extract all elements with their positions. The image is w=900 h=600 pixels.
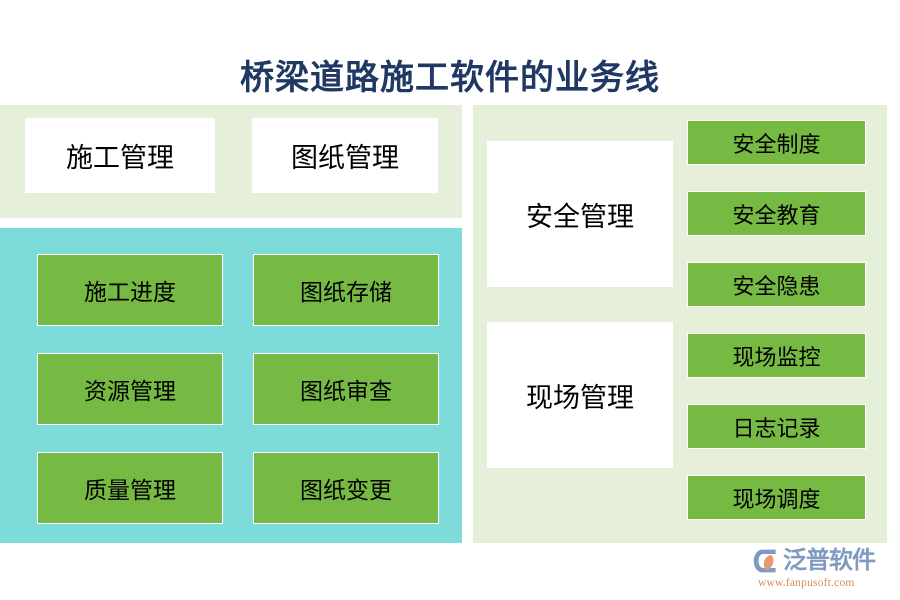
diagram-canvas: 桥梁道路施工软件的业务线 施工管理 图纸管理 施工进度 图纸存储 资源管理 图纸… [0, 0, 900, 600]
category-drawing-management[interactable]: 图纸管理 [252, 118, 438, 193]
sub-item-site-dispatch[interactable]: 现场调度 [687, 475, 866, 520]
sub-item-safety-system[interactable]: 安全制度 [687, 120, 866, 165]
page-title: 桥梁道路施工软件的业务线 [0, 50, 900, 99]
detail-item-label: 资源管理 [84, 372, 176, 406]
sub-item-site-monitoring[interactable]: 现场监控 [687, 333, 866, 378]
detail-item-quality-management[interactable]: 质量管理 [37, 452, 223, 524]
detail-item-drawing-storage[interactable]: 图纸存储 [253, 254, 439, 326]
sub-item-log-record[interactable]: 日志记录 [687, 404, 866, 449]
category-safety-management[interactable]: 安全管理 [487, 141, 673, 287]
brand-logo: 泛普软件 www.fanpusoft.com [752, 546, 892, 594]
category-construction-management-label: 施工管理 [66, 136, 174, 175]
sub-item-label: 现场调度 [732, 482, 820, 514]
sub-item-safety-hazard[interactable]: 安全隐患 [687, 262, 866, 307]
logo-wordmark: 泛普软件 [783, 549, 875, 573]
sub-item-label: 日志记录 [732, 411, 820, 443]
sub-item-label: 现场监控 [732, 340, 820, 372]
fanpu-swoosh-icon [752, 547, 780, 575]
sub-item-safety-education[interactable]: 安全教育 [687, 191, 866, 236]
sub-item-label: 安全隐患 [732, 269, 820, 301]
detail-item-drawing-review[interactable]: 图纸审查 [253, 353, 439, 425]
logo-row: 泛普软件 [752, 546, 892, 576]
sub-item-label: 安全教育 [732, 198, 820, 230]
detail-item-resource-management[interactable]: 资源管理 [37, 353, 223, 425]
detail-item-label: 质量管理 [84, 471, 176, 505]
construction-detail-panel: 施工进度 图纸存储 资源管理 图纸审查 质量管理 图纸变更 [0, 228, 462, 543]
category-site-management-label: 现场管理 [526, 376, 634, 415]
construction-category-panel: 施工管理 图纸管理 [0, 105, 462, 218]
category-site-management[interactable]: 现场管理 [487, 322, 673, 468]
safety-site-panel: 安全管理 安全制度 安全教育 安全隐患 现场管理 现场监控 日志记录 现场调度 [473, 105, 887, 543]
detail-item-construction-progress[interactable]: 施工进度 [37, 254, 223, 326]
logo-url: www.fanpusoft.com [758, 577, 892, 589]
detail-item-label: 图纸变更 [300, 471, 392, 505]
sub-item-label: 安全制度 [732, 127, 820, 159]
category-construction-management[interactable]: 施工管理 [25, 118, 215, 193]
category-drawing-management-label: 图纸管理 [291, 136, 399, 175]
detail-item-label: 施工进度 [84, 273, 176, 307]
category-safety-management-label: 安全管理 [526, 195, 634, 234]
detail-item-drawing-change[interactable]: 图纸变更 [253, 452, 439, 524]
detail-item-label: 图纸审查 [300, 372, 392, 406]
detail-item-label: 图纸存储 [300, 273, 392, 307]
